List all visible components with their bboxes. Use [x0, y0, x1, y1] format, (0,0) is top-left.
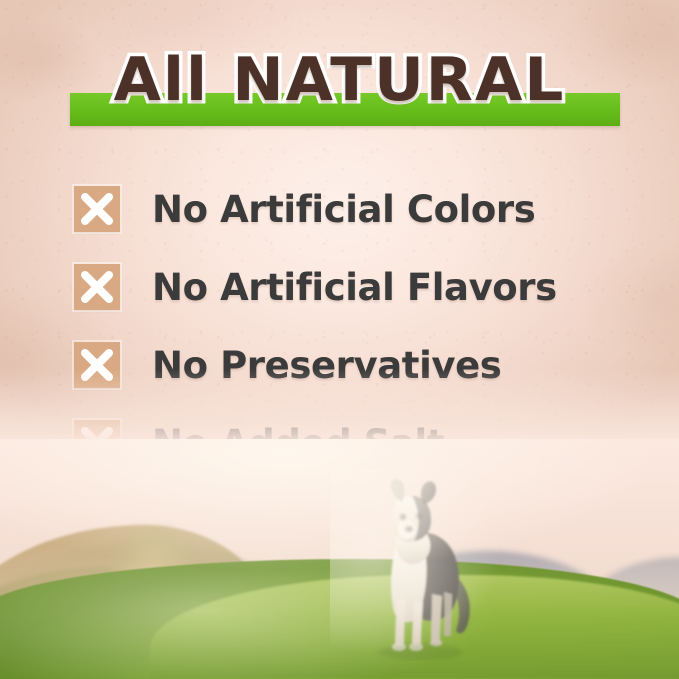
landscape-photo	[0, 439, 679, 679]
x-mark-icon	[74, 186, 120, 232]
benefit-row: No Artificial Colors	[74, 170, 634, 248]
benefit-label: No Artificial Colors	[152, 191, 535, 228]
headline-text: All NATURAL	[0, 44, 679, 116]
poster: All NATURAL No Artificial Colors	[0, 0, 679, 679]
dog-photo	[352, 476, 492, 661]
benefit-row: No Artificial Flavors	[74, 248, 634, 326]
x-mark-icon	[74, 264, 120, 310]
headline-banner: All NATURAL	[0, 44, 679, 136]
benefit-label: No Preservatives	[152, 347, 501, 384]
benefit-label: No Artificial Flavors	[152, 269, 557, 306]
x-mark-icon	[74, 342, 120, 388]
benefit-list: No Artificial Colors No Artificial Flavo…	[74, 170, 634, 482]
benefit-row: No Preservatives	[74, 326, 634, 404]
